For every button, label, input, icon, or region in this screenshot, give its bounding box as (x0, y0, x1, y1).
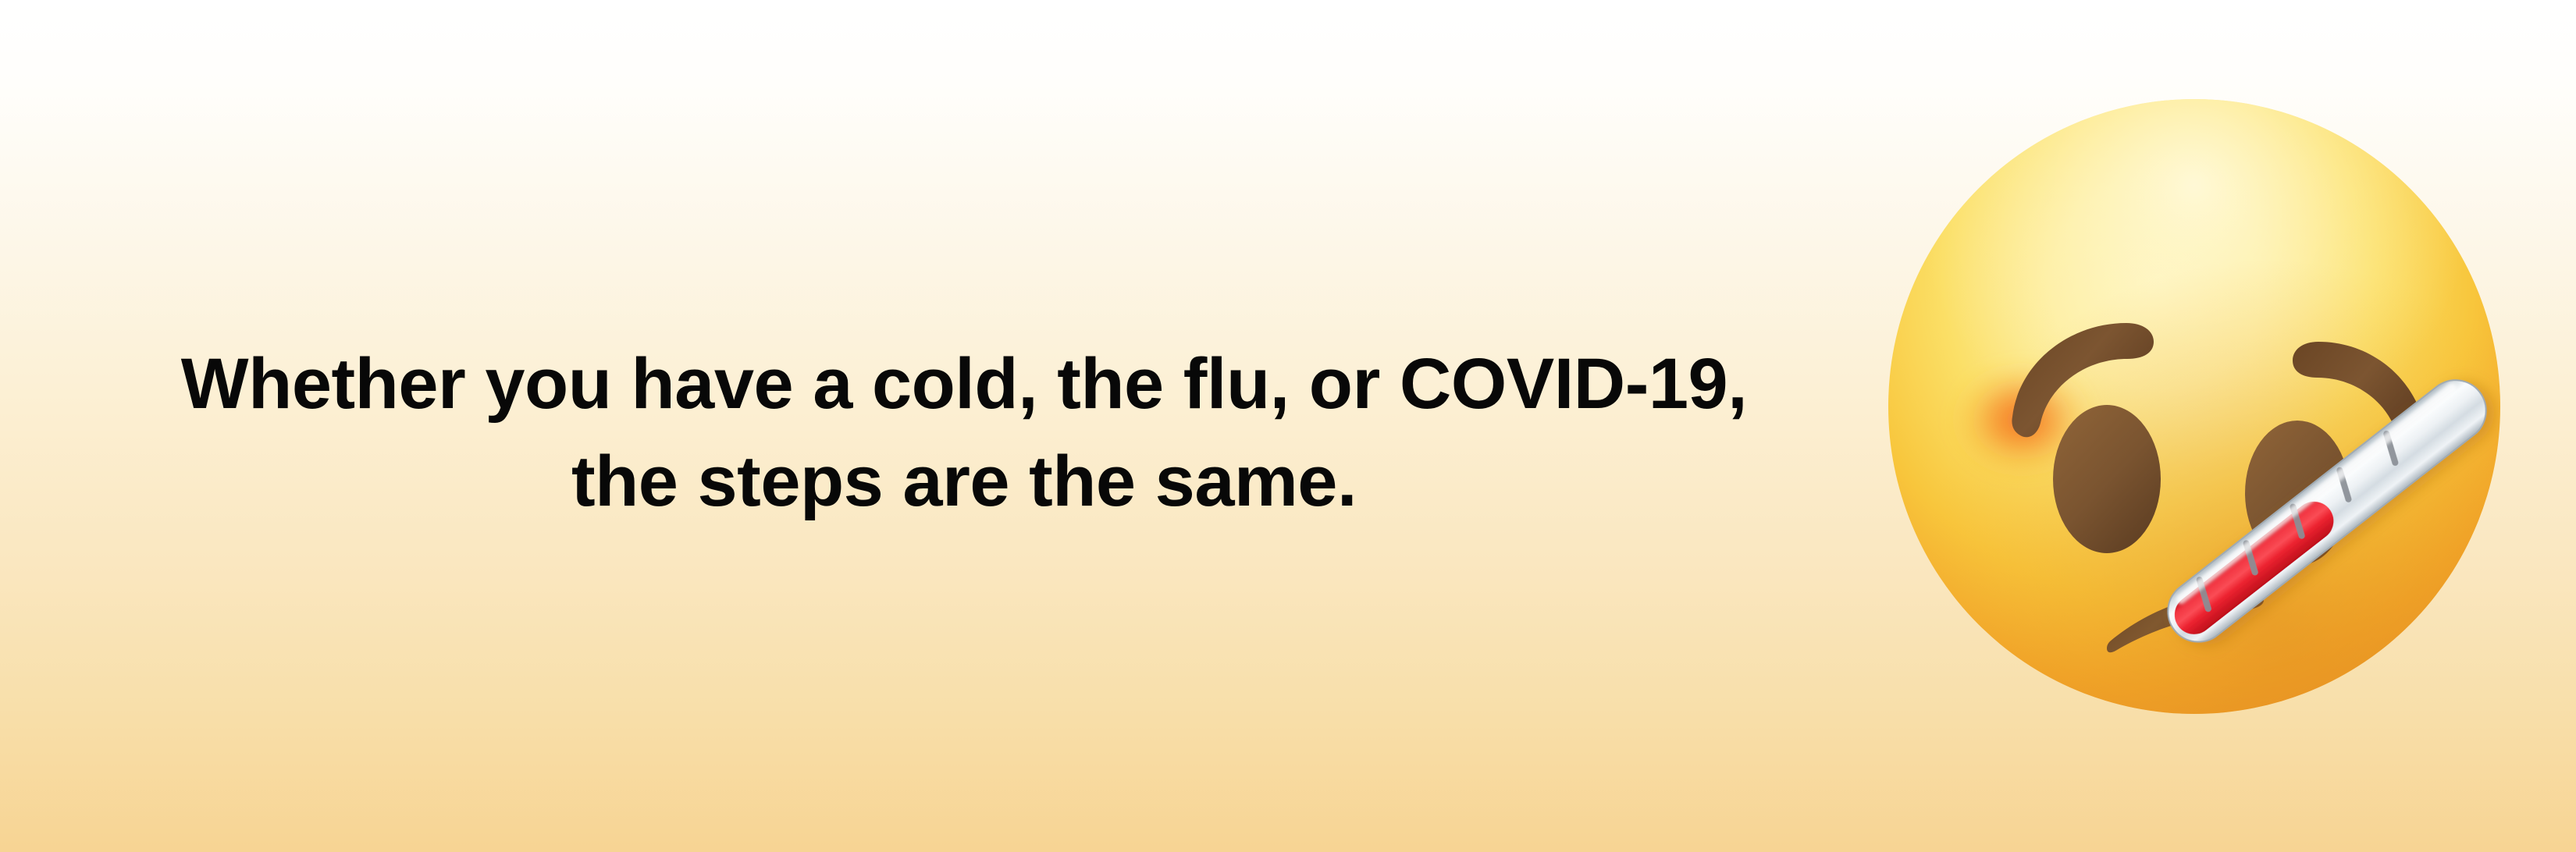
face-with-thermometer-icon (1888, 98, 2501, 715)
headline-line-1: Whether you have a cold, the flu, or COV… (47, 335, 1881, 433)
emoji-eye-left (2053, 405, 2161, 553)
headline-line-2: the steps are the same. (47, 433, 1881, 531)
covid-awareness-banner: Whether you have a cold, the flu, or COV… (0, 0, 2576, 852)
headline: Whether you have a cold, the flu, or COV… (47, 335, 1881, 531)
